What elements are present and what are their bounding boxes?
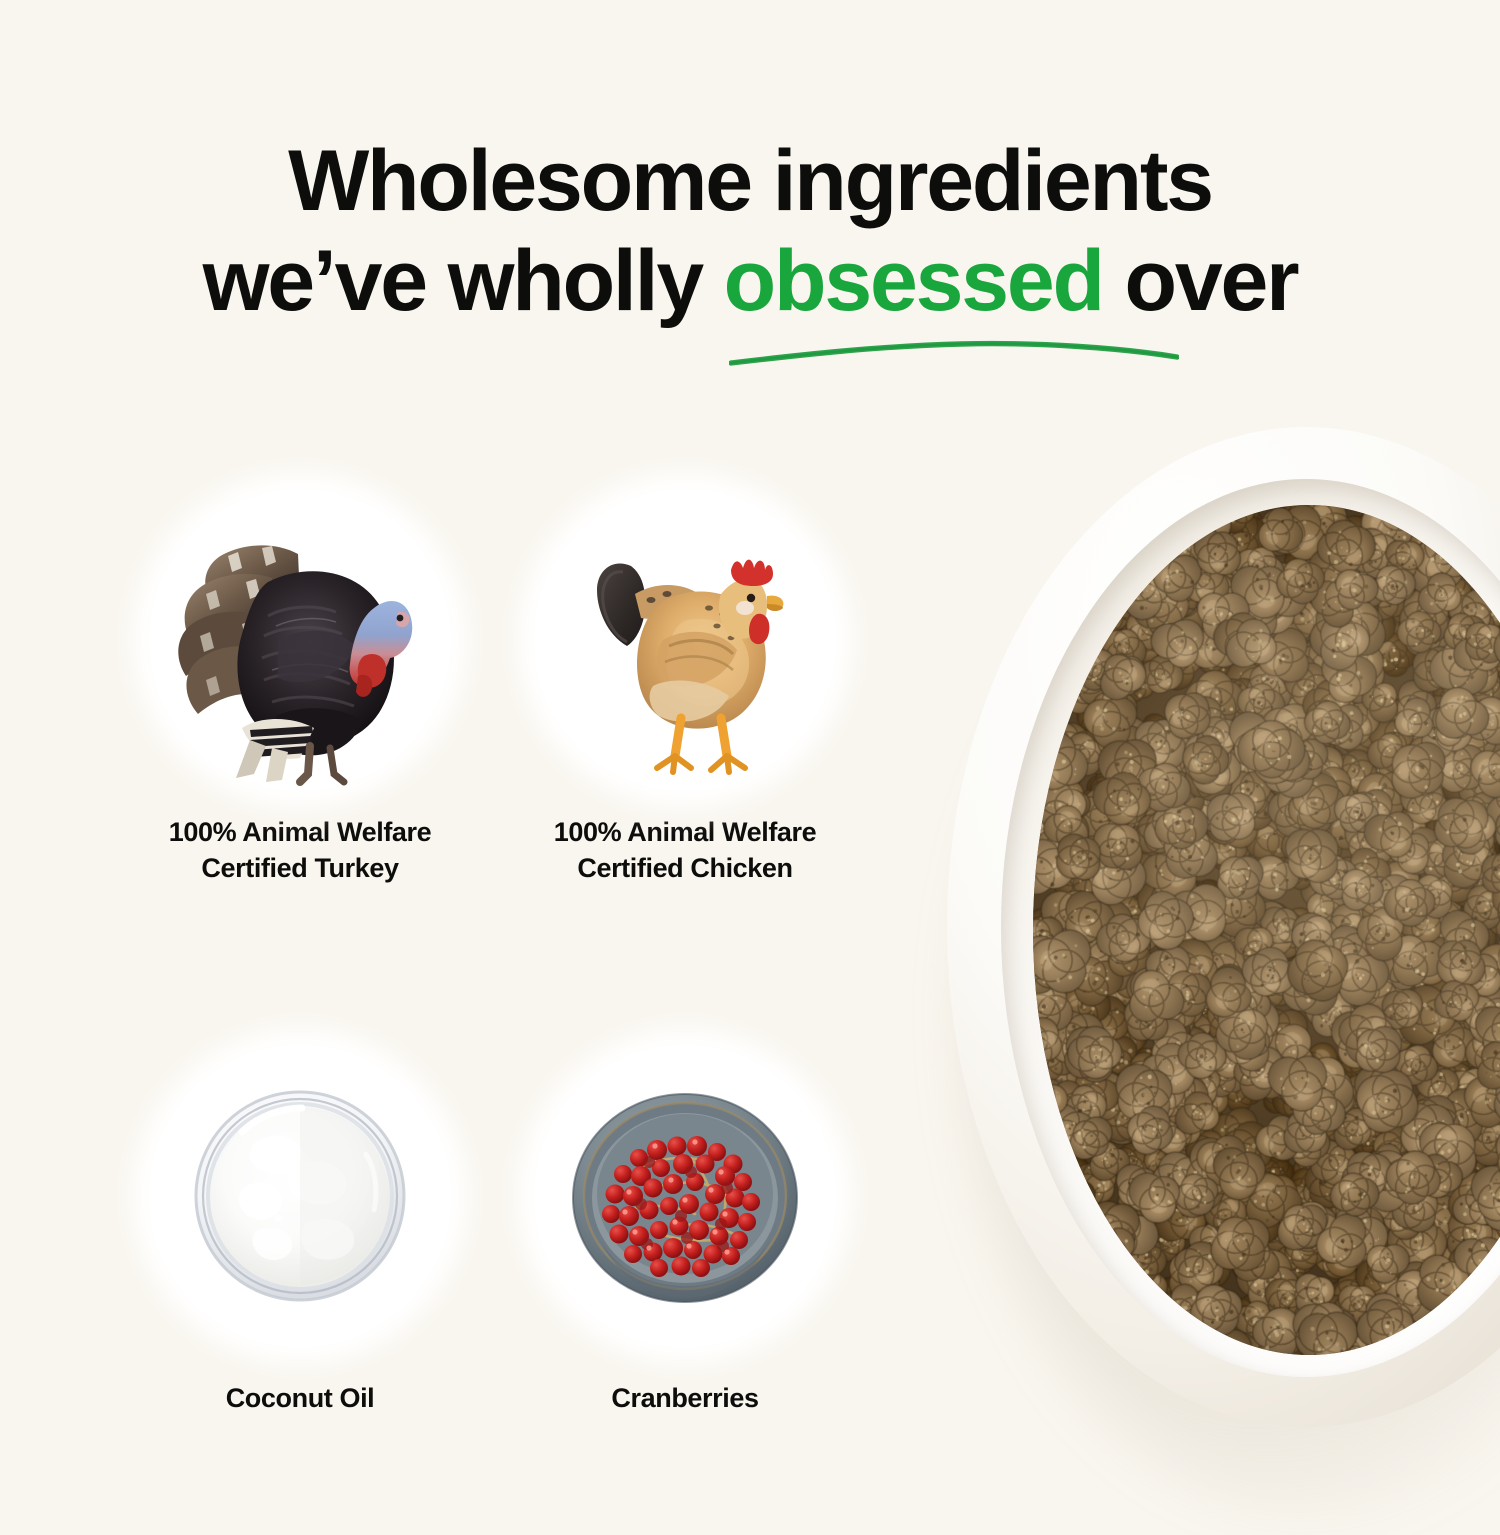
bowl-shadow: [965, 515, 1500, 1515]
ingredient-item-chicken[interactable]: 100% Animal Welfare Certified Chicken: [535, 490, 870, 886]
product-bowl-image: [905, 395, 1500, 1535]
chicken-disc: [535, 490, 835, 790]
headline-underline-swoosh: [729, 330, 1179, 370]
headline-accent-word: obsessed: [724, 233, 1103, 329]
chicken-label-line-2: Certified Chicken: [535, 850, 835, 886]
coconut-oil-disc: [150, 1046, 450, 1346]
cranberries-dish-icon: [535, 1046, 835, 1346]
kibble-pieces: [1033, 505, 1500, 1355]
ingredients-grid: 100% Animal Welfare Certified Turkey: [150, 490, 870, 1417]
ingredient-label-cranberries: Cranberries: [535, 1380, 835, 1416]
ingredient-label-coconut-oil: Coconut Oil: [150, 1380, 450, 1416]
ingredients-row-2: Coconut Oil: [150, 1046, 870, 1416]
ingredient-label-chicken: 100% Animal Welfare Certified Chicken: [535, 814, 835, 886]
turkey-label-line-2: Certified Turkey: [150, 850, 450, 886]
kibble-fill: [1033, 505, 1500, 1355]
ingredient-label-turkey: 100% Animal Welfare Certified Turkey: [150, 814, 450, 886]
ingredients-row-1: 100% Animal Welfare Certified Turkey: [150, 490, 870, 886]
cranberries-label-line-1: Cranberries: [611, 1383, 758, 1413]
headline-line-2: we’ve wholly obsessed over: [0, 232, 1500, 332]
turkey-icon: [150, 490, 450, 790]
page-headline: Wholesome ingredients we’ve wholly obses…: [0, 132, 1500, 332]
ingredient-item-coconut-oil[interactable]: Coconut Oil: [150, 1046, 535, 1416]
cranberries-disc: [535, 1046, 835, 1346]
turkey-disc: [150, 490, 450, 790]
turkey-label-line-1: 100% Animal Welfare: [169, 817, 432, 847]
headline-line-2-suffix: over: [1103, 233, 1298, 329]
coconut-oil-jar-icon: [150, 1046, 450, 1346]
headline-line-2-prefix: we’ve wholly: [203, 233, 724, 329]
chicken-label-line-1: 100% Animal Welfare: [554, 817, 817, 847]
bowl-rim-outer: [947, 427, 1500, 1427]
coconut-oil-label-line-1: Coconut Oil: [226, 1383, 375, 1413]
chicken-icon: [535, 490, 835, 790]
headline-line-1: Wholesome ingredients: [0, 132, 1500, 232]
bowl-rim-inner: [1001, 479, 1500, 1377]
ingredient-item-turkey[interactable]: 100% Animal Welfare Certified Turkey: [150, 490, 535, 886]
ingredient-item-cranberries[interactable]: Cranberries: [535, 1046, 870, 1416]
